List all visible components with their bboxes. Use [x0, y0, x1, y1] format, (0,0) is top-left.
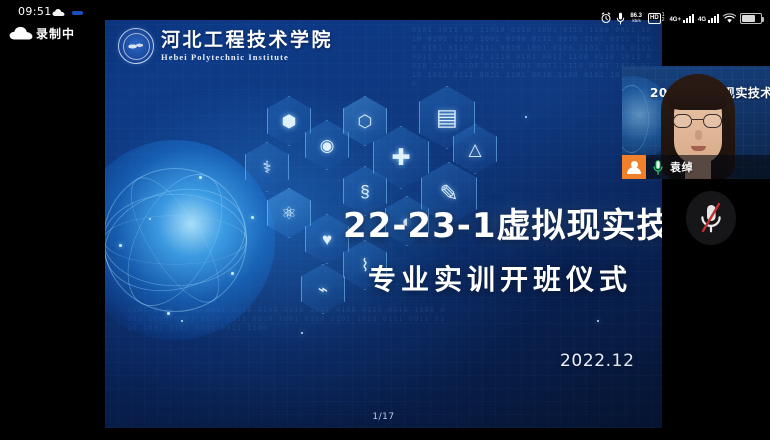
hd-sub: 2	[662, 18, 665, 23]
network-speed-indicator: 86.3 kb/s	[630, 13, 642, 24]
participant-name-bar: 袁绰	[622, 155, 770, 179]
participant-name-label: 袁绰	[670, 159, 693, 175]
microphone-on-icon	[651, 160, 665, 175]
eyeglasses-right	[703, 114, 722, 128]
notification-pill-icon	[72, 11, 83, 15]
network-speed-unit: kb/s	[632, 19, 640, 24]
microphone-muted-icon	[698, 202, 724, 234]
slide-vignette	[105, 20, 662, 428]
weather-cloud-icon	[9, 26, 33, 41]
slide-page-indicator: 1/17	[105, 412, 662, 422]
presentation-slide[interactable]: 0101 1011 01 11010 0110 1001 0111 1100 0…	[105, 20, 662, 428]
sim2-signal-icon	[708, 14, 719, 23]
sim2-signal-group: 4G	[698, 14, 719, 23]
status-bar-right: 86.3 kb/s HD 1 2 4G+ 4G	[600, 9, 762, 27]
sim1-network-label: 4G+	[669, 17, 681, 23]
battery-icon	[740, 13, 762, 24]
participant-video-tile[interactable]: 2021级虚拟现实技术 专业 袁绰	[622, 66, 770, 179]
cloud-icon	[52, 8, 65, 17]
status-clock: 09:51	[18, 5, 52, 18]
microphone-icon	[616, 12, 625, 25]
status-bar: 09:51 录制中 86.3 kb/s	[0, 0, 770, 36]
hd-label: HD	[648, 13, 661, 24]
mute-microphone-button[interactable]	[686, 191, 736, 245]
wifi-icon	[723, 13, 736, 24]
eyeglasses-left	[673, 114, 692, 128]
hd-voice-icon: HD 1 2	[648, 13, 664, 24]
sim1-signal-icon	[683, 14, 694, 23]
alarm-icon	[600, 12, 612, 24]
status-bar-left: 09:51 录制中	[0, 0, 120, 36]
sim2-network-label: 4G	[698, 17, 706, 23]
sim1-signal-group: 4G+	[669, 14, 694, 23]
person-avatar-icon	[622, 155, 646, 179]
recording-status-label: 录制中	[36, 25, 75, 42]
phone-screen: 09:51 录制中 86.3 kb/s	[0, 0, 770, 440]
